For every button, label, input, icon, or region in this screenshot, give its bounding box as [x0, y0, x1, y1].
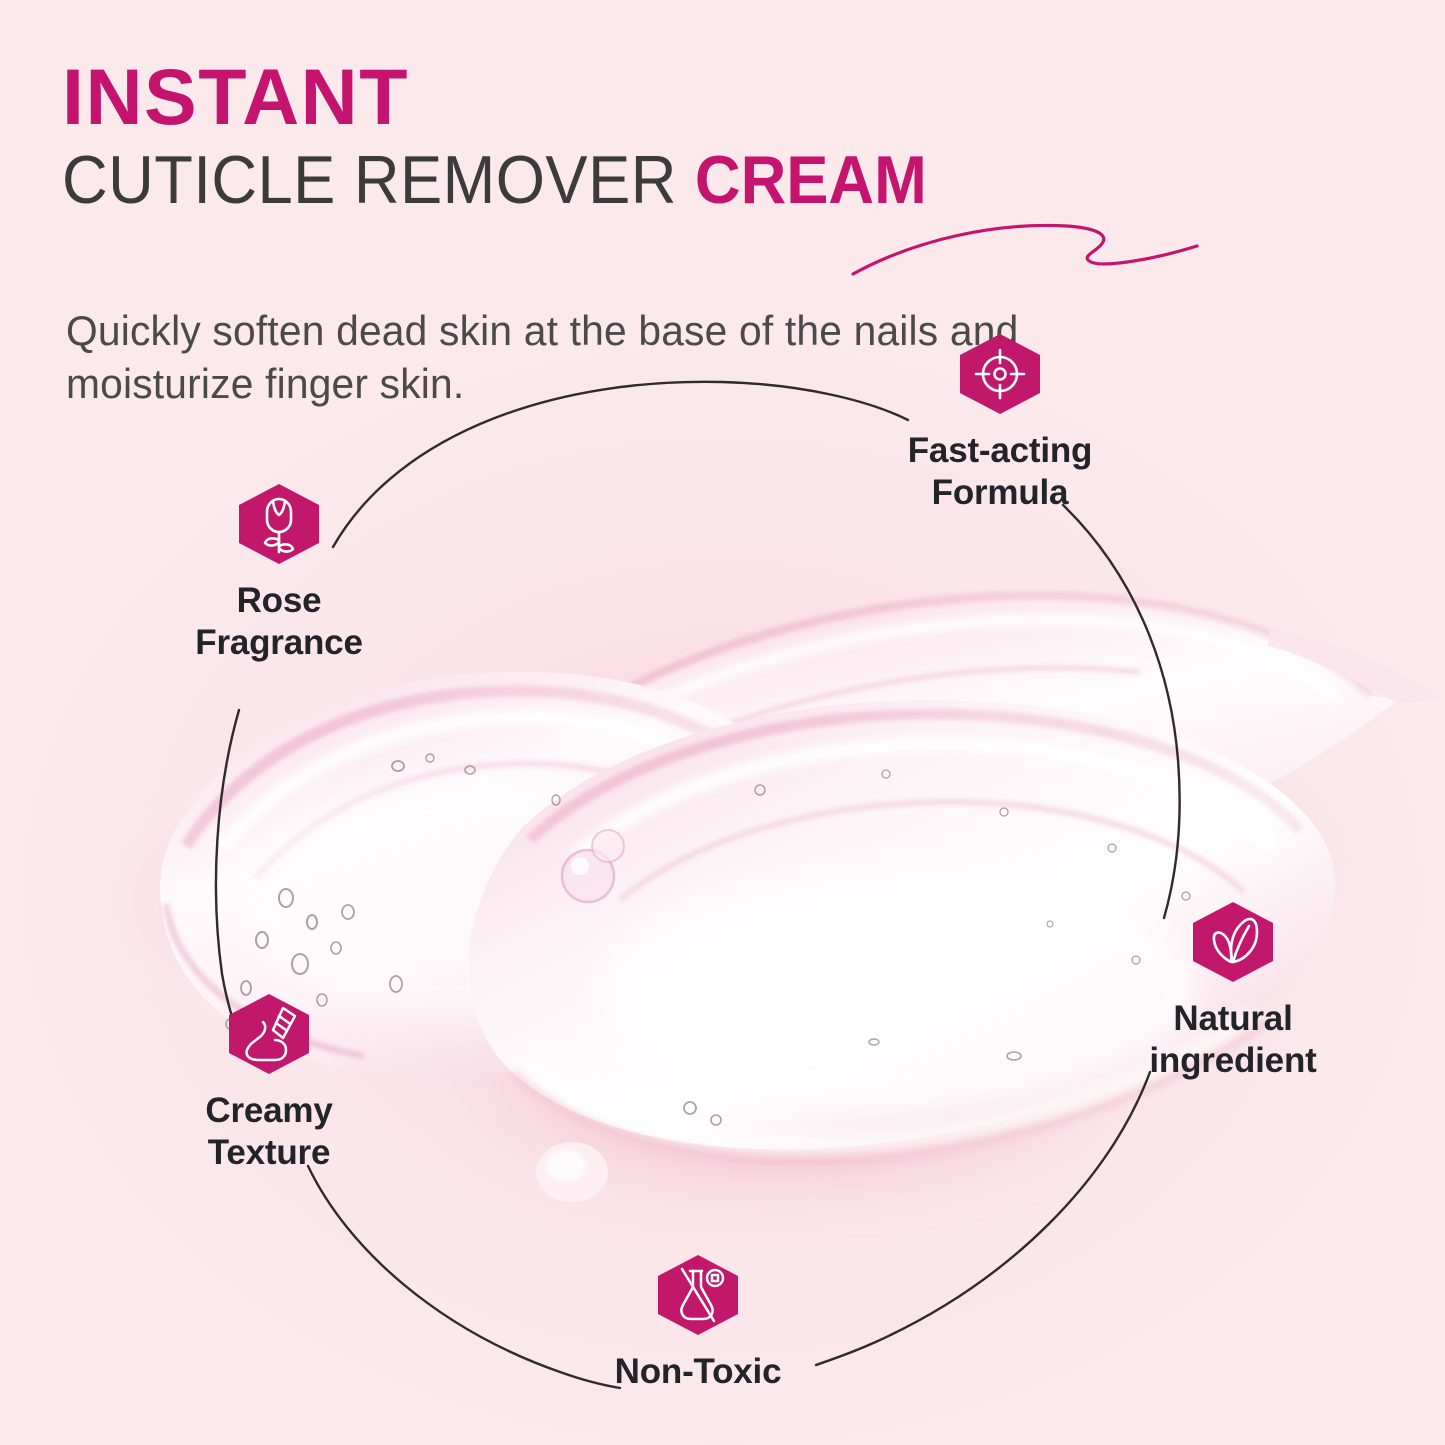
hexagon-badge-creamy-texture	[223, 992, 315, 1076]
hexagon-badge-fast-acting	[954, 332, 1046, 416]
feature-creamy-texture[interactable]: Creamy Texture	[119, 992, 419, 1174]
feature-non-toxic[interactable]: Non-Toxic	[548, 1253, 848, 1393]
page-title: INSTANT	[62, 56, 1222, 138]
feature-fast-acting[interactable]: Fast-acting Formula	[850, 332, 1150, 514]
feature-label-non-toxic: Non-Toxic	[548, 1351, 848, 1393]
page-subtitle-accent: CREAM	[695, 142, 927, 218]
target-crosshair-icon	[954, 332, 1046, 416]
hexagon-badge-non-toxic	[652, 1253, 744, 1337]
feature-natural-ingredient[interactable]: Natural ingredient	[1083, 900, 1383, 1082]
page-subtitle-line: CUTICLE REMOVER CREAM	[62, 144, 1141, 216]
headline-block: INSTANT CUTICLE REMOVER CREAM	[62, 56, 1222, 216]
hexagon-badge-rose-fragrance	[233, 482, 325, 566]
product-infographic: INSTANT CUTICLE REMOVER CREAM Quickly so…	[0, 0, 1445, 1445]
page-subtitle-plain: CUTICLE REMOVER	[62, 142, 695, 218]
swoosh-flourish-icon	[845, 212, 1205, 302]
feature-rose-fragrance[interactable]: Rose Fragrance	[129, 482, 429, 664]
feature-label-natural-ingredient: Natural ingredient	[1083, 998, 1383, 1082]
feature-label-fast-acting: Fast-acting Formula	[850, 430, 1150, 514]
feature-label-creamy-texture: Creamy Texture	[119, 1090, 419, 1174]
cream-dollop-icon	[223, 992, 315, 1076]
no-chemicals-flask-icon	[652, 1253, 744, 1337]
leaves-icon	[1187, 900, 1279, 984]
hexagon-badge-natural-ingredient	[1187, 900, 1279, 984]
rose-flower-icon	[233, 482, 325, 566]
feature-label-rose-fragrance: Rose Fragrance	[129, 580, 429, 664]
